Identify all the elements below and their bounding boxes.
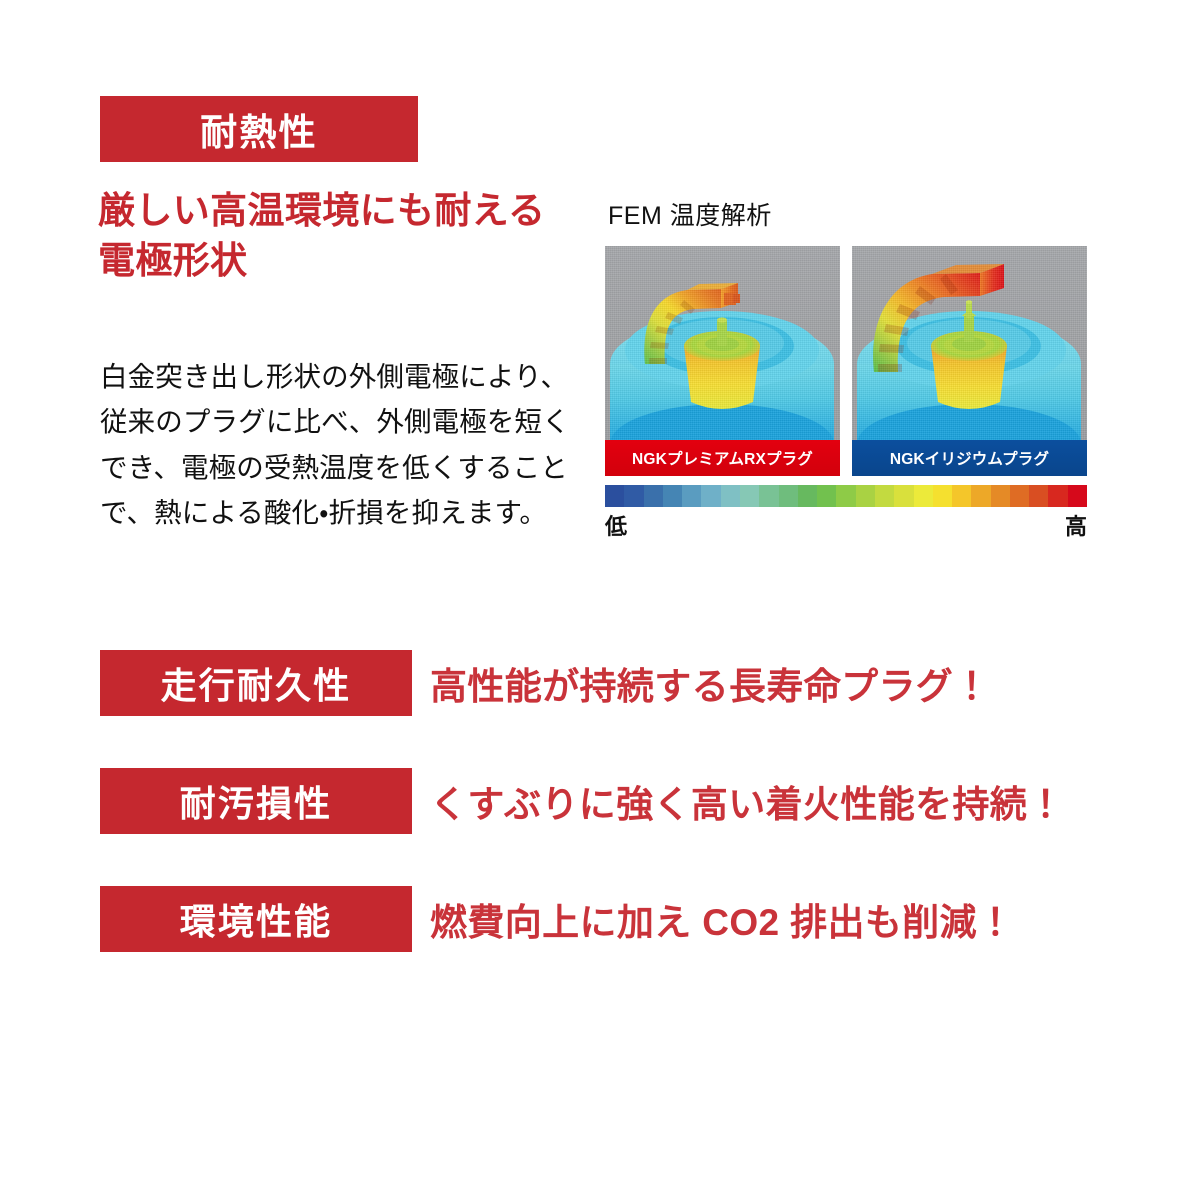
color-scale-swatch-20 [991, 485, 1010, 507]
section-badge-heat: 耐熱性 [100, 96, 418, 162]
fem-panel-iridium: NGKイリジウムプラグ [852, 246, 1087, 476]
color-scale-swatch-4 [682, 485, 701, 507]
color-scale-swatch-17 [933, 485, 952, 507]
plug-label-premium-rx: NGKプレミアムRXプラグ [605, 440, 840, 476]
fem-title: FEM 温度解析 [608, 196, 1087, 232]
color-scale-swatch-23 [1048, 485, 1067, 507]
section-heat-resistance: 耐熱性 厳しい高温環境にも耐える 電極形状 白金突き出し形状の外側電極により、従… [0, 0, 1200, 600]
color-scale-swatch-19 [971, 485, 990, 507]
fem-panel-premium-rx: NGKプレミアムRXプラグ [605, 246, 840, 476]
scale-label-low: 低 [605, 509, 627, 541]
feature-row-environmental: 環境性能 燃費向上に加え CO2 排出も削減！ [0, 886, 1200, 952]
color-scale-swatch-7 [740, 485, 759, 507]
color-scale-swatch-3 [663, 485, 682, 507]
feature-badge-environmental: 環境性能 [100, 886, 412, 952]
color-scale-swatch-10 [798, 485, 817, 507]
section-body-text: 白金突き出し形状の外側電極により、従来のプラグに比べ、外側電極を短くでき、電極の… [100, 354, 590, 537]
color-scale-swatch-22 [1029, 485, 1048, 507]
feature-row-fouling-resistance: 耐汚損性 くすぶりに強く高い着火性能を持続！ [0, 768, 1200, 834]
feature-badge-fouling-resistance: 耐汚損性 [100, 768, 412, 834]
page-root: 耐熱性 厳しい高温環境にも耐える 電極形状 白金突き出し形状の外側電極により、従… [0, 0, 1200, 1200]
subtitle-line-1: 厳しい高温環境にも耐える [98, 186, 598, 236]
color-scale-swatch-9 [779, 485, 798, 507]
color-scale-swatch-13 [856, 485, 875, 507]
color-scale-swatch-0 [605, 485, 624, 507]
color-scale-swatch-21 [1010, 485, 1029, 507]
fem-panel-group: NGKプレミアムRXプラグ [605, 246, 1087, 476]
color-scale-swatch-11 [817, 485, 836, 507]
scale-label-high: 高 [1065, 509, 1087, 541]
color-scale-swatch-6 [721, 485, 740, 507]
color-scale-bar [605, 485, 1087, 507]
color-scale-swatch-2 [644, 485, 663, 507]
fem-color-scale: 低 高 [605, 485, 1087, 541]
feature-text-fouling-resistance: くすぶりに強く高い着火性能を持続！ [430, 768, 1065, 834]
color-scale-swatch-8 [759, 485, 778, 507]
feature-text-durability: 高性能が持続する長寿命プラグ！ [430, 650, 991, 716]
feature-row-durability: 走行耐久性 高性能が持続する長寿命プラグ！ [0, 650, 1200, 716]
feature-badge-durability: 走行耐久性 [100, 650, 412, 716]
feature-text-environmental: 燃費向上に加え CO2 排出も削減！ [430, 886, 1014, 952]
color-scale-swatch-24 [1068, 485, 1087, 507]
color-scale-swatch-15 [894, 485, 913, 507]
plug-label-iridium: NGKイリジウムプラグ [852, 440, 1087, 476]
section-feature-list: 走行耐久性 高性能が持続する長寿命プラグ！ 耐汚損性 くすぶりに強く高い着火性能… [0, 650, 1200, 1004]
color-scale-swatch-5 [701, 485, 720, 507]
color-scale-swatch-14 [875, 485, 894, 507]
color-scale-swatch-16 [914, 485, 933, 507]
color-scale-swatch-18 [952, 485, 971, 507]
color-scale-labels: 低 高 [605, 509, 1087, 541]
fem-figure: FEM 温度解析 [605, 196, 1087, 541]
section-subtitle: 厳しい高温環境にも耐える 電極形状 [98, 186, 598, 286]
color-scale-swatch-12 [836, 485, 855, 507]
color-scale-swatch-1 [624, 485, 643, 507]
subtitle-line-2: 電極形状 [98, 236, 598, 286]
